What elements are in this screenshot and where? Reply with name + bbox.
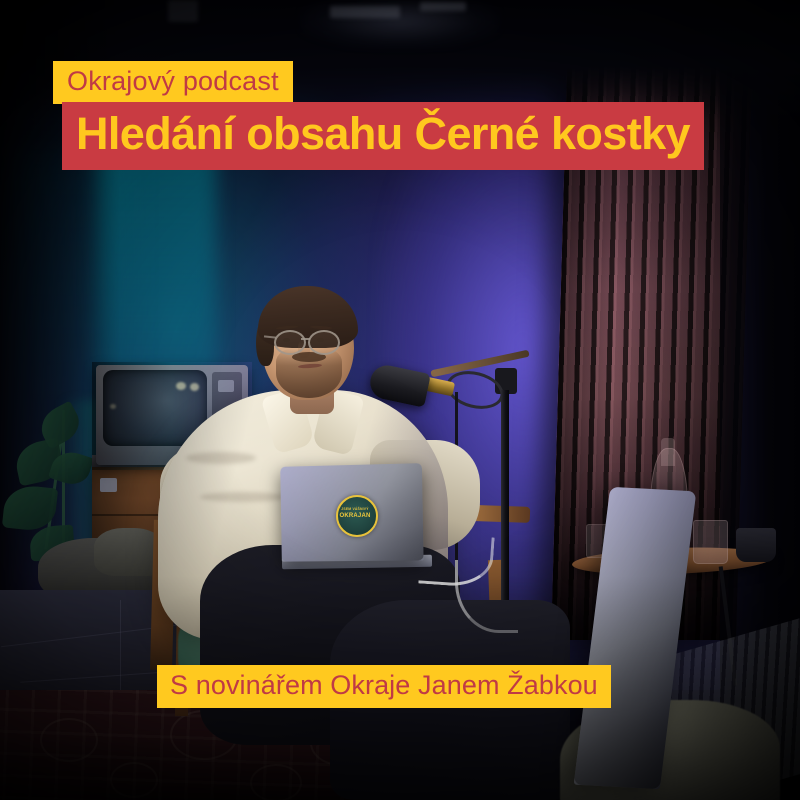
laptop-sticker <box>336 495 378 537</box>
eyeglasses-lens-left <box>274 330 306 355</box>
drinking-glass <box>693 520 728 564</box>
ceiling-fixture-icon <box>168 0 198 22</box>
subtitle-banner: S novinářem Okraje Janem Žabkou <box>157 665 611 708</box>
eyebrow-banner: Okrajový podcast <box>53 61 293 104</box>
eyeglasses-lens-right <box>308 330 340 355</box>
title-banner: Hledání obsahu Černé kostky <box>62 102 704 170</box>
podcast-cover-image: JSEM VÁŠNIVÝ OKRAJAN Okrajový podcast Hl… <box>0 0 800 800</box>
ceiling-fixture-icon <box>330 6 400 18</box>
ceramic-mug <box>736 528 776 562</box>
eyeglasses-bridge <box>301 338 310 340</box>
cabinet-sticker <box>100 478 117 492</box>
ceiling-fixture-icon <box>420 2 466 11</box>
